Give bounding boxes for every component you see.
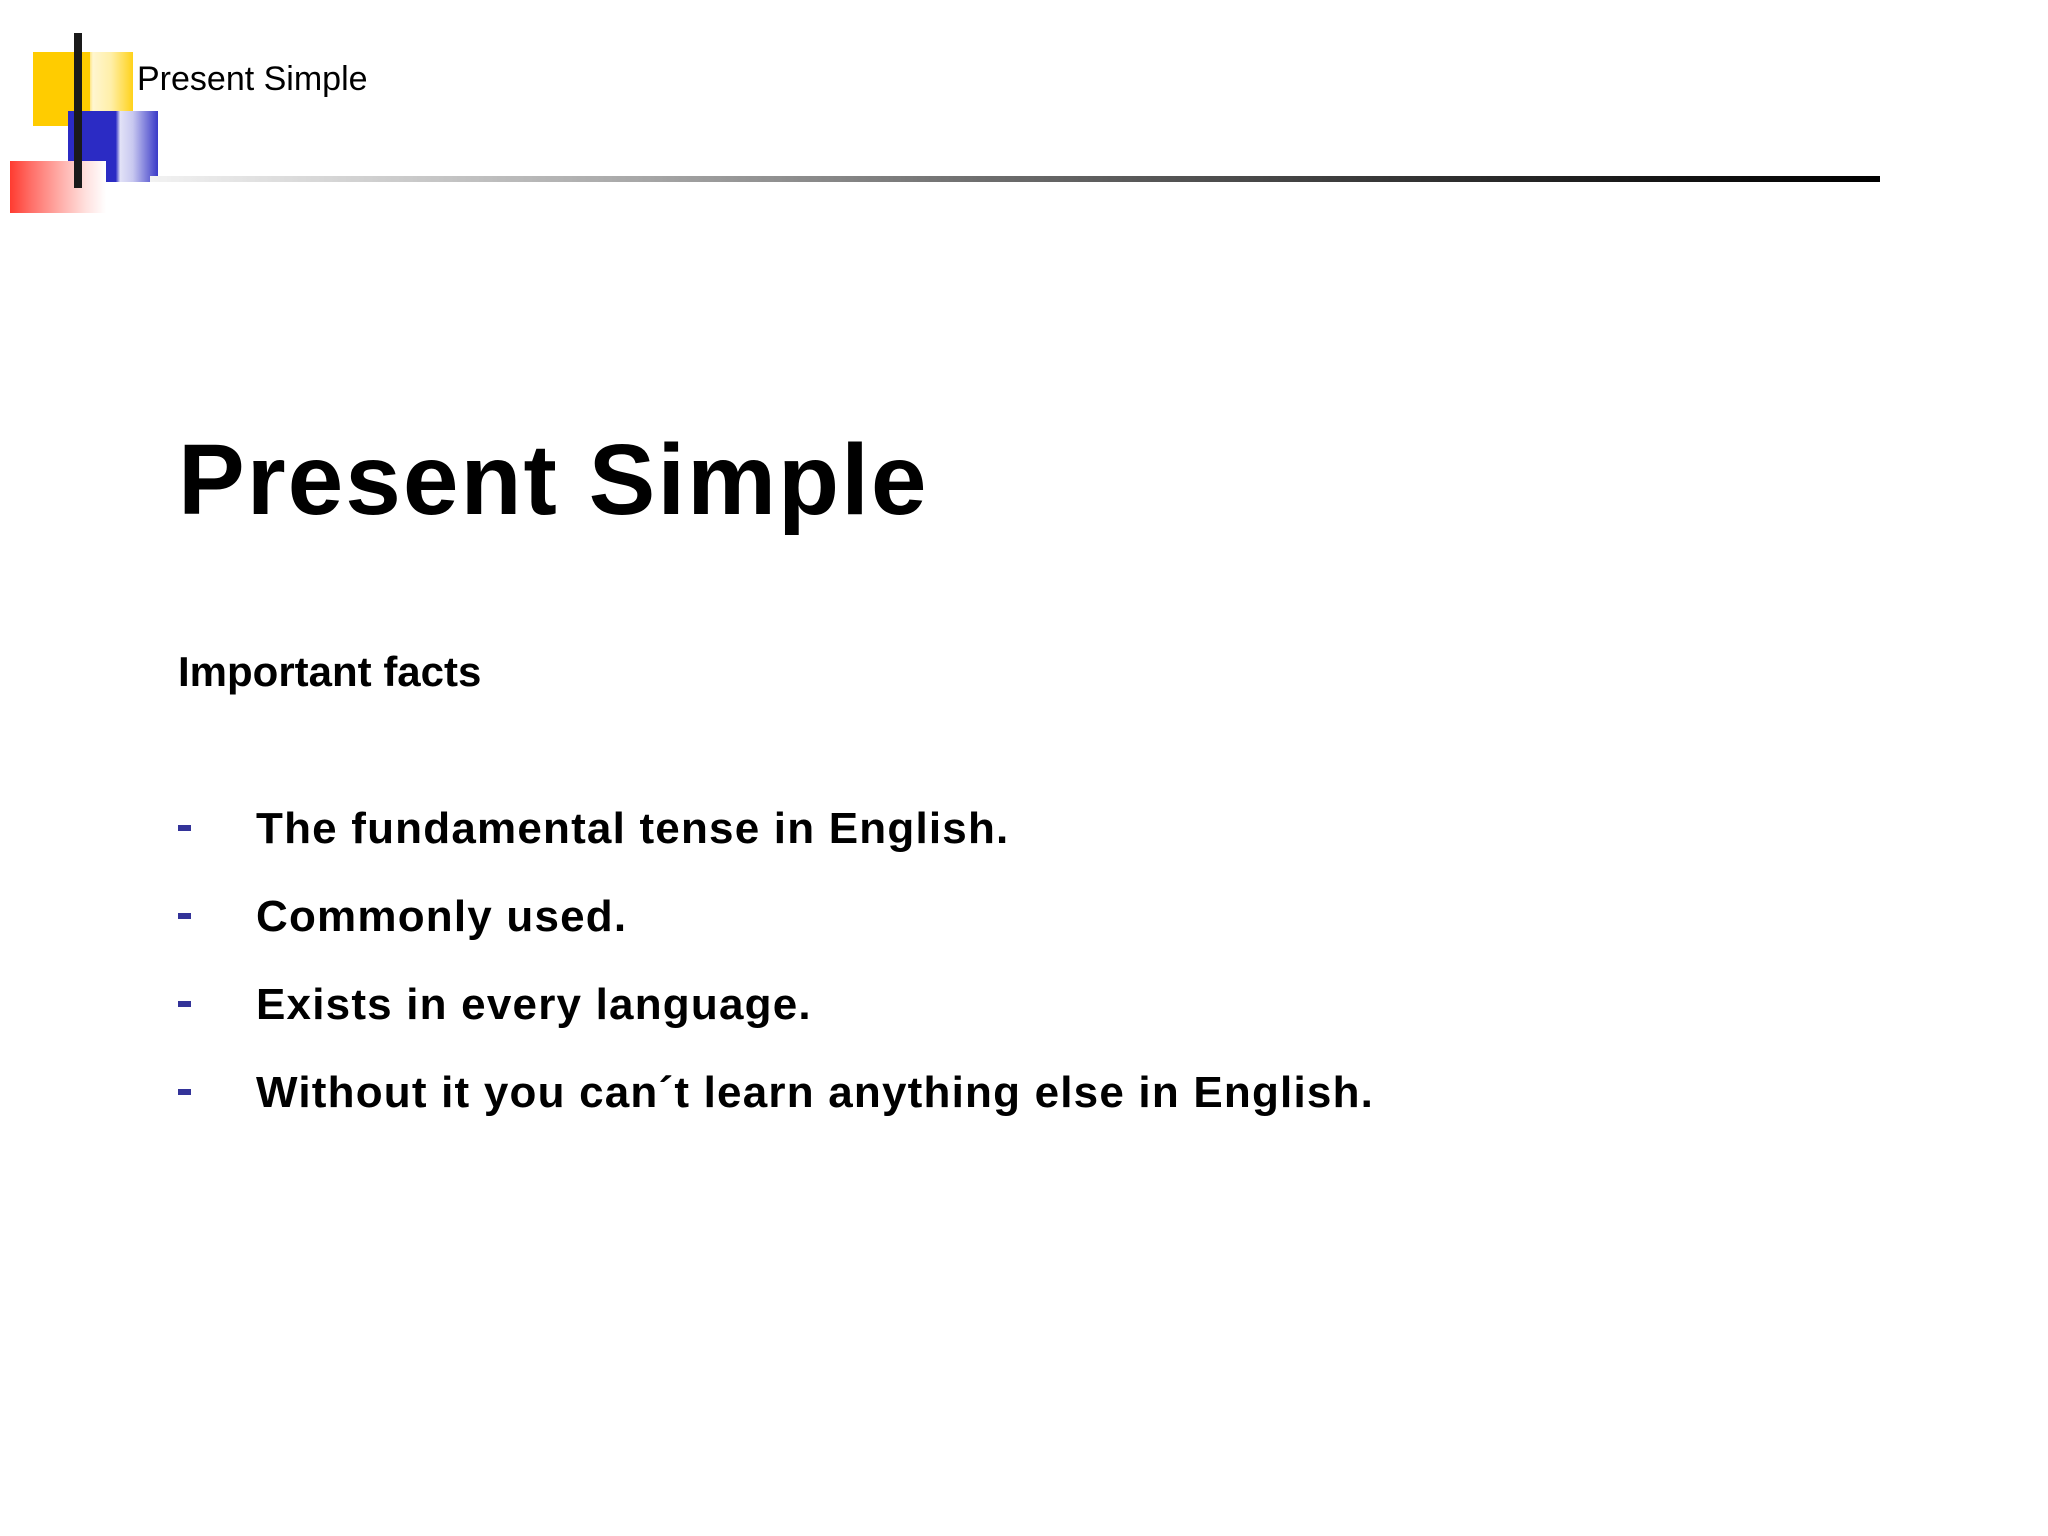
list-item-label: Commonly used.: [256, 873, 627, 961]
header-divider-rule: [150, 176, 1880, 182]
presentation-slide: Present Simple Present Simple Important …: [0, 0, 2048, 1536]
list-item: Without it you can´t learn anything else…: [178, 1049, 1928, 1137]
dash-bullet-icon: [178, 825, 191, 831]
dash-bullet-icon: [178, 913, 191, 919]
header-title: Present Simple: [137, 57, 368, 101]
dash-bullet-icon: [178, 1001, 191, 1007]
list-item-label: The fundamental tense in English.: [256, 785, 1009, 873]
facts-bullet-list: The fundamental tense in English. Common…: [178, 785, 1928, 1137]
list-item: The fundamental tense in English.: [178, 785, 1928, 873]
slide-logo: [0, 0, 240, 240]
logo-vertical-bar: [74, 33, 82, 188]
logo-red-block: [10, 161, 106, 213]
list-item-label: Without it you can´t learn anything else…: [256, 1049, 1374, 1137]
section-subtitle: Important facts: [178, 647, 481, 697]
list-item: Commonly used.: [178, 873, 1928, 961]
dash-bullet-icon: [178, 1089, 191, 1095]
list-item-label: Exists in every language.: [256, 961, 812, 1049]
list-item: Exists in every language.: [178, 961, 1928, 1049]
page-title: Present Simple: [178, 424, 929, 536]
